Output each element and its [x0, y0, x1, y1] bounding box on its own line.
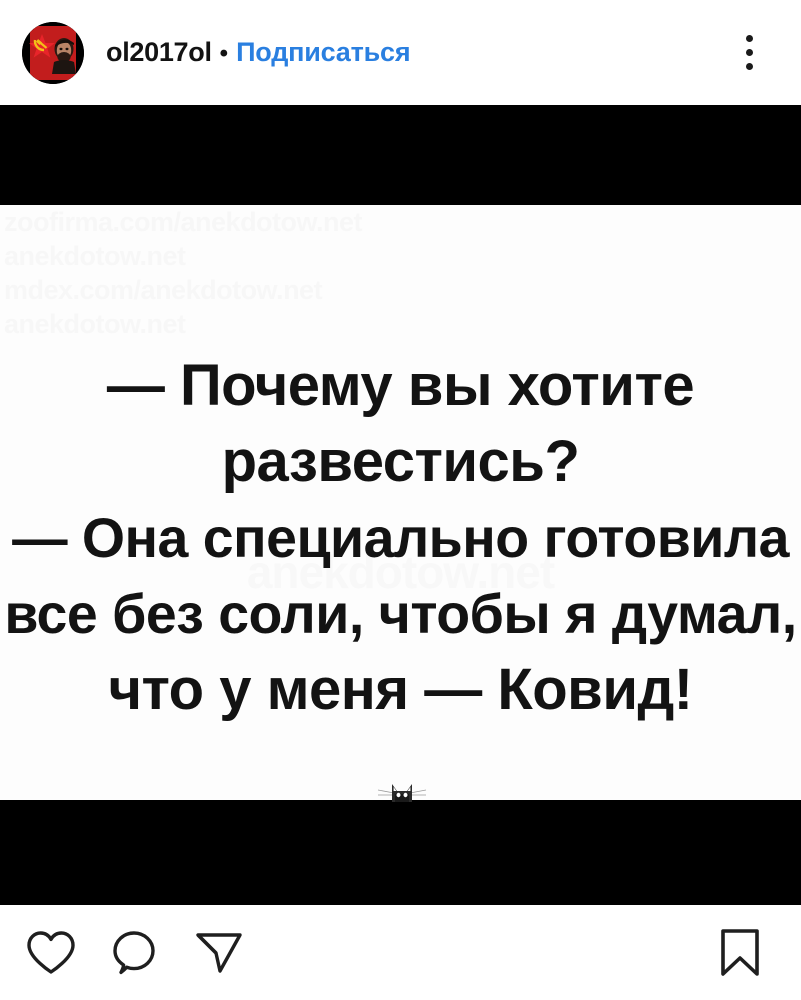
action-icons-right [713, 926, 767, 980]
username-label[interactable]: ol2017ol [106, 37, 212, 68]
more-dot-3 [746, 63, 753, 70]
save-button[interactable] [713, 926, 767, 980]
post-header: ol2017ol • Подписаться [0, 0, 801, 105]
more-dot-1 [746, 35, 753, 42]
header-text: ol2017ol • Подписаться [106, 37, 729, 68]
separator-dot: • [220, 40, 228, 68]
joke-line-4: все без соли, чтобы я думал, [4, 576, 797, 652]
joke-line-3: — Она специально готовила [4, 500, 797, 576]
post-image[interactable]: zoofirma.com/anekdotow.net anekdotow.net… [0, 105, 801, 905]
bookmark-icon [718, 928, 762, 978]
avatar-image [22, 22, 84, 84]
share-button[interactable] [192, 926, 246, 980]
comment-button[interactable] [108, 926, 162, 980]
post-actions-bar [0, 905, 801, 1000]
avatar[interactable] [22, 22, 84, 84]
joke-line-1: — Почему вы хотите [0, 348, 801, 424]
more-dot-2 [746, 49, 753, 56]
like-button[interactable] [24, 926, 78, 980]
image-top-black-band [0, 105, 801, 205]
share-paper-plane-icon [194, 929, 244, 977]
more-options-icon[interactable] [729, 25, 769, 81]
joke-line-5: что у меня — Ковид! [0, 652, 801, 728]
joke-line-2: развестись? [0, 424, 801, 500]
action-icons-left [24, 926, 713, 980]
joke-text: — Почему вы хотите развестись? — Она спе… [0, 348, 801, 728]
comment-icon [111, 929, 159, 977]
image-bottom-black-band [0, 800, 801, 905]
follow-button[interactable]: Подписаться [236, 37, 410, 68]
heart-icon [26, 930, 76, 976]
